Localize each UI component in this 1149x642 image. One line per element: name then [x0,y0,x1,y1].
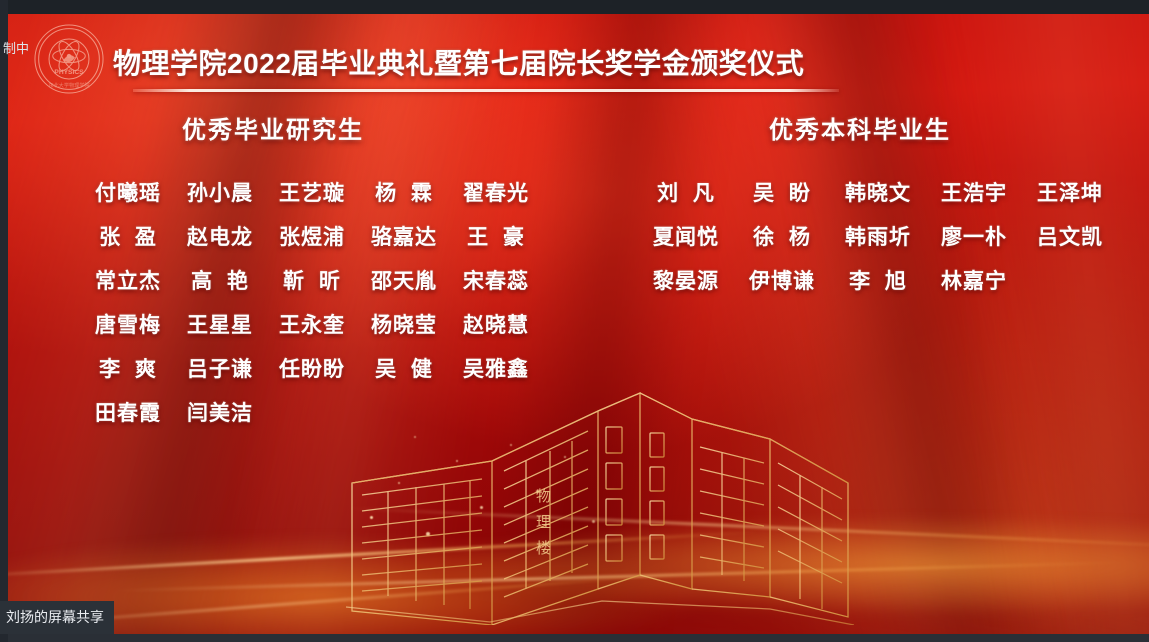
window-left-gutter [0,0,8,642]
building-caption-char: 楼 [536,540,551,557]
honoree-name: 常立杰 [82,265,174,295]
title-divider [133,89,839,92]
honoree-name: 王艺璇 [266,177,358,207]
honoree-name: 吴 盼 [734,177,830,207]
honoree-name: 刘 凡 [638,177,734,207]
honoree-name: 黎晏源 [638,265,734,295]
honoree-name: 李 爽 [82,353,174,383]
honoree-name: 赵晓慧 [450,309,542,339]
honoree-name: 王 豪 [450,221,542,251]
honoree-name: 王永奎 [266,309,358,339]
header: PHYSICS 东北大学物理学院 物理学院2022届毕业典礼暨第七届院长奖学金颁… [0,14,1149,88]
honoree-name: 林嘉宁 [926,265,1022,295]
name-row: 李 爽 吕子谦 任盼盼 吴 健 吴雅鑫 [60,353,560,383]
name-row: 夏闻悦 徐 杨 韩雨圻 廖一朴 吕文凯 [620,221,1120,251]
screen-share-label: 刘扬的屏幕共享 [0,601,114,634]
window-top-bar [0,0,1149,14]
honoree-name: 宋春蕊 [450,265,542,295]
honoree-name: 吕文凯 [1022,221,1118,251]
honoree-name: 徐 杨 [734,221,830,251]
honoree-name: 唐雪梅 [82,309,174,339]
name-row: 张 盈 赵电龙 张煜浦 骆嘉达 王 豪 [60,221,560,251]
honoree-name: 邵天胤 [358,265,450,295]
honoree-name: 李 旭 [830,265,926,295]
window-bottom-bar [0,634,1149,642]
honoree-name: 张 盈 [82,221,174,251]
honoree-name: 闫美洁 [174,397,266,427]
column-heading: 优秀毕业研究生 [60,110,560,145]
honoree-name: 张煜浦 [266,221,358,251]
honoree-name: 高 艳 [174,265,266,295]
honoree-name: 韩晓文 [830,177,926,207]
honoree-name: 骆嘉达 [358,221,450,251]
building-caption-char: 物 [536,488,551,505]
column-graduate-students: 优秀毕业研究生 付曦瑶 孙小晨 王艺璇 杨 霖 翟春光 张 盈 赵电龙 张煜浦 … [60,110,560,441]
name-row: 田春霞 闫美洁 [60,397,560,427]
honoree-name: 田春霞 [82,397,174,427]
honoree-name: 翟春光 [450,177,542,207]
page-title: 物理学院2022届毕业典礼暨第七届院长奖学金颁奖仪式 [113,42,804,82]
column-heading: 优秀本科毕业生 [620,110,1120,145]
honoree-name: 赵电龙 [174,221,266,251]
svg-text:东北大学物理学院: 东北大学物理学院 [48,81,89,89]
honoree-name: 吴 健 [358,353,450,383]
honoree-name: 伊博谦 [734,265,830,295]
screen-share-view: 物 理 楼 PHYSICS 东北大学物理学院 物理学院2022届毕业典礼暨第七届… [0,0,1149,642]
honoree-name: 靳 昕 [266,265,358,295]
honoree-name: 王泽坤 [1022,177,1118,207]
svg-text:PHYSICS: PHYSICS [54,69,84,76]
honoree-name: 王星星 [174,309,266,339]
physics-college-emblem-icon: PHYSICS 东北大学物理学院 [30,22,108,96]
honoree-name: 杨晓莹 [358,309,450,339]
honoree-name: 孙小晨 [174,177,266,207]
honoree-name: 廖一朴 [926,221,1022,251]
name-row: 黎晏源 伊博谦 李 旭 林嘉宁 [620,265,1120,295]
honoree-name: 付曦瑶 [82,177,174,207]
column-undergraduate-students: 优秀本科毕业生 刘 凡 吴 盼 韩晓文 王浩宇 王泽坤 夏闻悦 徐 杨 韩雨圻 … [620,110,1120,309]
honoree-name: 夏闻悦 [638,221,734,251]
name-row: 常立杰 高 艳 靳 昕 邵天胤 宋春蕊 [60,265,560,295]
honoree-name: 王浩宇 [926,177,1022,207]
honoree-name: 吴雅鑫 [450,353,542,383]
name-row: 付曦瑶 孙小晨 王艺璇 杨 霖 翟春光 [60,177,560,207]
honoree-name: 吕子谦 [174,353,266,383]
honoree-name: 杨 霖 [358,177,450,207]
name-row: 唐雪梅 王星星 王永奎 杨晓莹 赵晓慧 [60,309,560,339]
honoree-name: 任盼盼 [266,353,358,383]
honoree-name: 韩雨圻 [830,221,926,251]
name-row: 刘 凡 吴 盼 韩晓文 王浩宇 王泽坤 [620,177,1120,207]
recording-indicator: 制中 [0,36,32,59]
building-caption-char: 理 [536,515,551,531]
